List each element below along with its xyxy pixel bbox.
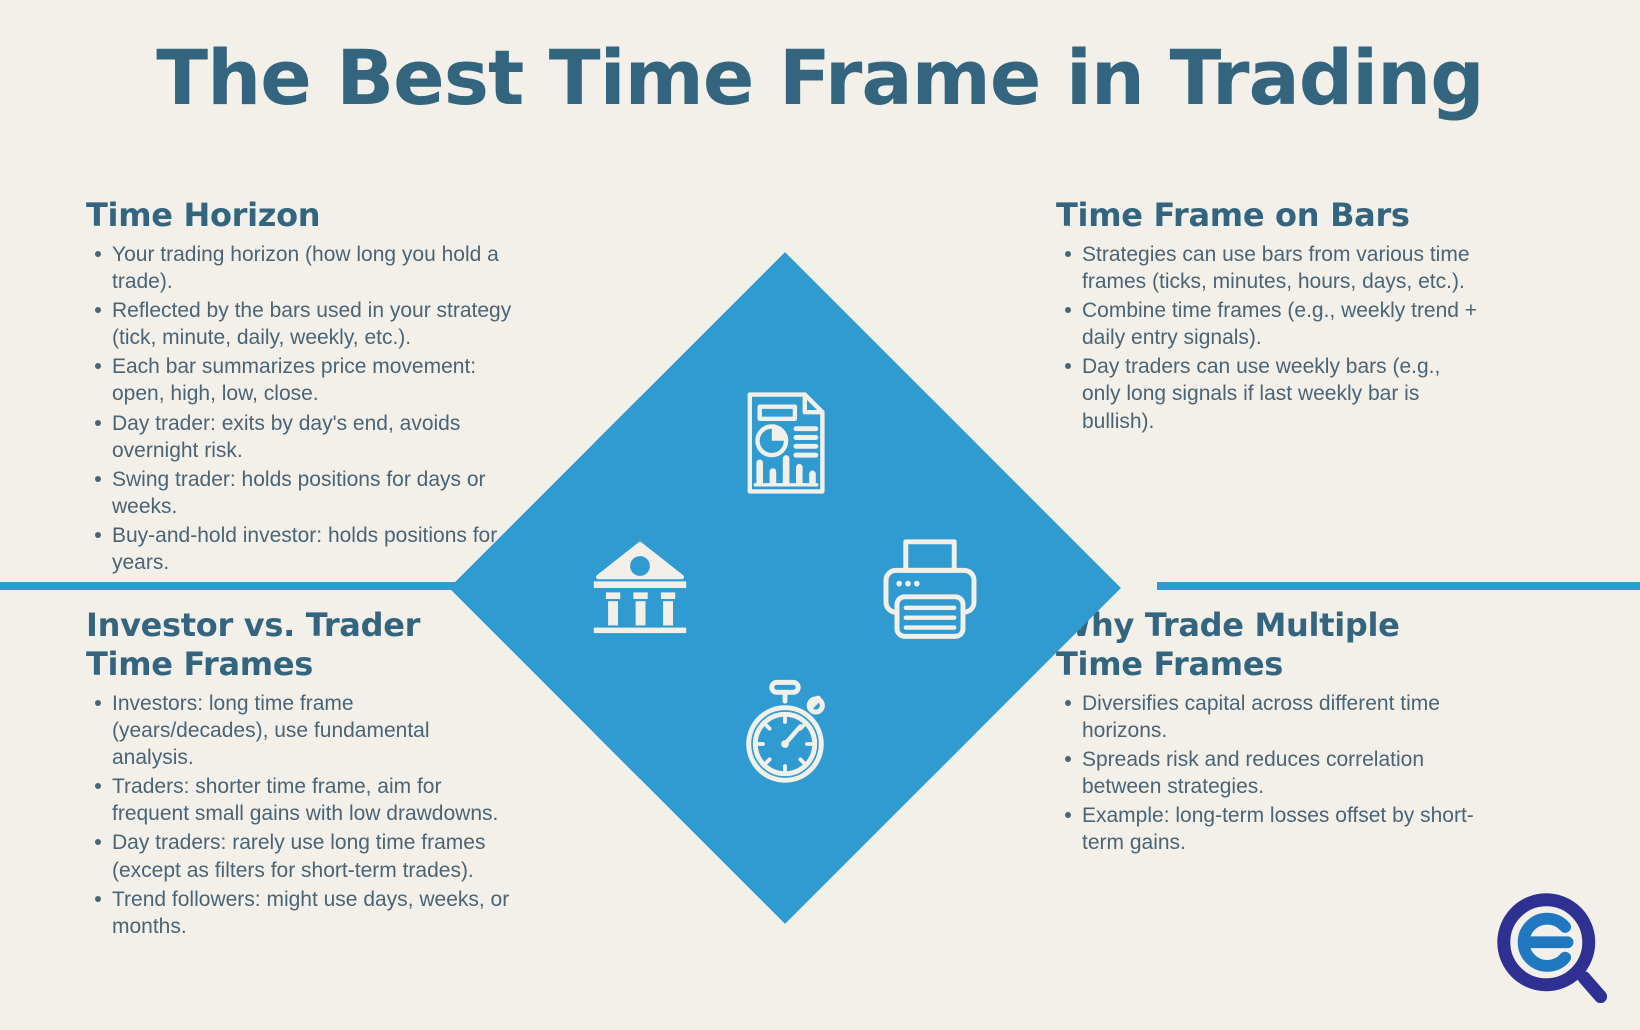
section-heading-time-horizon: Time Horizon (86, 196, 516, 235)
list-item: Day trader: exits by day's end, avoids o… (112, 410, 516, 464)
list-item: Buy-and-hold investor: holds positions f… (112, 522, 516, 576)
list-item: Example: long-term losses offset by shor… (1082, 802, 1496, 856)
section-why-trade-multiple-time-frames: Why Trade Multiple Time Frames Diversifi… (1056, 606, 1496, 859)
list-item: Spreads risk and reduces correlation bet… (1082, 746, 1496, 800)
section-heading-investor-vs-trader: Investor vs. Trader Time Frames (86, 606, 511, 684)
list-item: Day traders can use weekly bars (e.g., o… (1082, 353, 1481, 434)
bullet-list-time-frame-on-bars: Strategies can use bars from various tim… (1056, 241, 1481, 435)
sq-magnifier-logo (1492, 888, 1610, 1006)
list-item: Your trading horizon (how long you hold … (112, 241, 516, 295)
section-investor-vs-trader: Investor vs. Trader Time Frames Investor… (86, 606, 511, 942)
list-item: Combine time frames (e.g., weekly trend … (1082, 297, 1481, 351)
divider-right (1157, 582, 1640, 590)
stopwatch-icon (730, 678, 840, 788)
divider-left (0, 582, 466, 590)
page-title: The Best Time Frame in Trading (0, 36, 1640, 120)
report-document-icon (730, 388, 840, 498)
list-item: Day traders: rarely use long time frames… (112, 829, 511, 883)
bullet-list-time-horizon: Your trading horizon (how long you hold … (86, 241, 516, 576)
list-item: Traders: shorter time frame, aim for fre… (112, 773, 511, 827)
section-heading-why-trade-multiple: Why Trade Multiple Time Frames (1056, 606, 1496, 684)
section-heading-time-frame-on-bars: Time Frame on Bars (1056, 196, 1481, 235)
section-time-horizon: Time Horizon Your trading horizon (how l… (86, 196, 516, 578)
bullet-list-why-trade-multiple: Diversifies capital across different tim… (1056, 690, 1496, 856)
list-item: Each bar summarizes price movement: open… (112, 353, 516, 407)
list-item: Strategies can use bars from various tim… (1082, 241, 1481, 295)
bullet-list-investor-vs-trader: Investors: long time frame (years/decade… (86, 690, 511, 940)
section-time-frame-on-bars: Time Frame on Bars Strategies can use ba… (1056, 196, 1481, 437)
list-item: Investors: long time frame (years/decade… (112, 690, 511, 771)
list-item: Reflected by the bars used in your strat… (112, 297, 516, 351)
list-item: Diversifies capital across different tim… (1082, 690, 1496, 744)
diamond-cluster (500, 303, 1070, 873)
list-item: Swing trader: holds positions for days o… (112, 466, 516, 520)
printer-icon (875, 533, 985, 643)
list-item: Trend followers: might use days, weeks, … (112, 886, 511, 940)
bank-building-icon (585, 533, 695, 643)
